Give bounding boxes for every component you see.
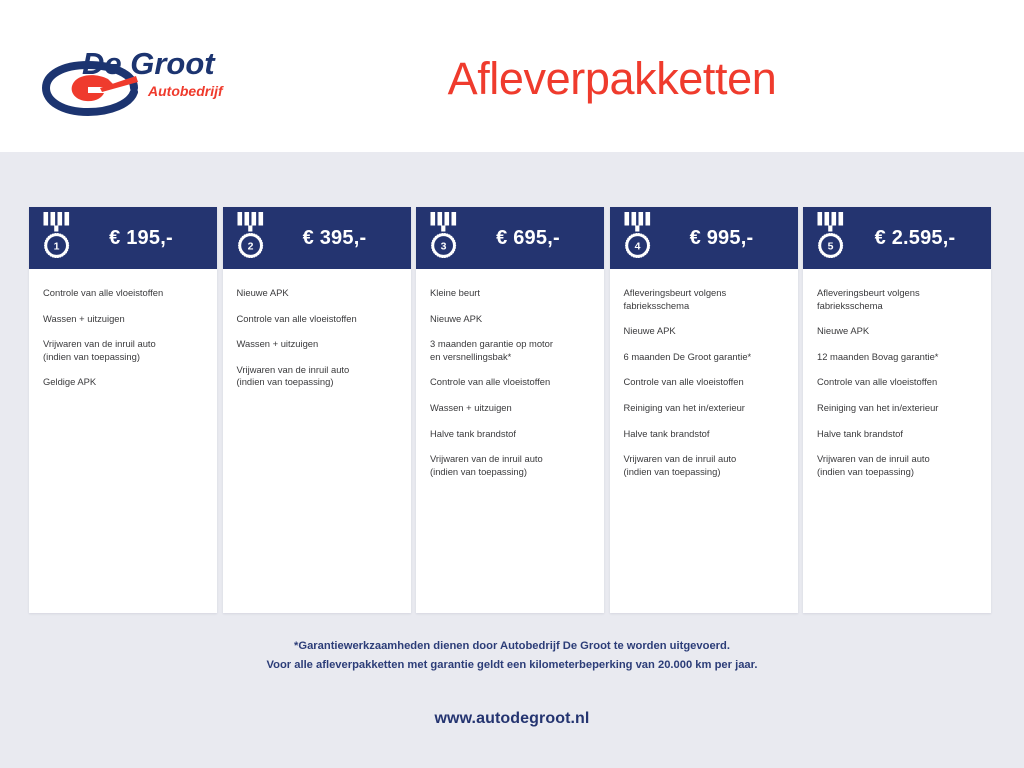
package-feature-item: Halve tank brandstof — [624, 428, 784, 441]
package-feature-item: 6 maanden De Groot garantie* — [624, 351, 784, 364]
package-price: € 195,- — [75, 227, 211, 250]
medal-number: 3 — [441, 240, 447, 252]
package-feature-item: Kleine beurt — [430, 287, 590, 300]
package-feature-list: Nieuwe APKControle van alle vloeistoffen… — [223, 269, 411, 613]
package-feature-item: 12 maanden Bovag garantie* — [817, 351, 977, 364]
package-card-header: 5 € 2.595,- — [803, 207, 991, 269]
medal-icon: 4 — [620, 211, 656, 263]
package-feature-item: Nieuwe APK — [624, 325, 784, 338]
medal-number: 1 — [54, 240, 60, 252]
medal-icon: 1 — [39, 211, 75, 263]
medal-number: 2 — [247, 240, 253, 252]
package-card[interactable]: 1 € 195,-Controle van alle vloeistoffenW… — [29, 207, 217, 613]
package-feature-item: Halve tank brandstof — [817, 428, 977, 441]
package-card[interactable]: 2 € 395,-Nieuwe APKControle van alle vlo… — [223, 207, 411, 613]
package-card[interactable]: 5 € 2.595,-Afleveringsbeurt volgensfabri… — [803, 207, 991, 613]
medal-icon: 3 — [426, 211, 462, 263]
medal-icon: 2 — [233, 211, 269, 263]
package-card[interactable]: 3 € 695,-Kleine beurtNieuwe APK3 maanden… — [416, 207, 604, 613]
package-card-header: 3 € 695,- — [416, 207, 604, 269]
package-price: € 995,- — [656, 227, 792, 250]
disclaimer-line-1: *Garantiewerkzaamheden dienen door Autob… — [0, 637, 1024, 656]
package-card-header: 4 € 995,- — [610, 207, 798, 269]
package-feature-item: Controle van alle vloeistoffen — [817, 376, 977, 389]
package-feature-item: Nieuwe APK — [237, 287, 397, 300]
package-feature-item: Nieuwe APK — [430, 313, 590, 326]
package-feature-item: Afleveringsbeurt volgensfabrieksschema — [817, 287, 977, 312]
medal-number: 5 — [828, 240, 834, 252]
package-feature-list: Kleine beurtNieuwe APK3 maanden garantie… — [416, 269, 604, 613]
website-url[interactable]: www.autodegroot.nl — [0, 710, 1024, 728]
package-feature-item: Controle van alle vloeistoffen — [237, 313, 397, 326]
disclaimer-line-2: Voor alle afleverpakketten met garantie … — [0, 656, 1024, 675]
medal-icon: 5 — [813, 211, 849, 263]
package-feature-item: Vrijwaren van de inruil auto(indien van … — [43, 338, 203, 363]
package-feature-item: Vrijwaren van de inruil auto(indien van … — [430, 453, 590, 478]
page-header: De Groot Autobedrijf Afleverpakketten — [0, 0, 1024, 152]
package-card[interactable]: 4 € 995,-Afleveringsbeurt volgensfabriek… — [610, 207, 798, 613]
package-feature-item: Vrijwaren van de inruil auto(indien van … — [624, 453, 784, 478]
package-card-header: 2 € 395,- — [223, 207, 411, 269]
package-feature-item: Geldige APK — [43, 376, 203, 389]
package-feature-item: Controle van alle vloeistoffen — [43, 287, 203, 300]
package-feature-item: 3 maanden garantie op motoren versnellin… — [430, 338, 590, 363]
page-title: Afleverpakketten — [0, 50, 1024, 108]
package-feature-item: Reiniging van het in/exterieur — [624, 402, 784, 415]
package-feature-list: Afleveringsbeurt volgensfabrieksschemaNi… — [610, 269, 798, 613]
package-feature-item: Halve tank brandstof — [430, 428, 590, 441]
package-feature-item: Controle van alle vloeistoffen — [624, 376, 784, 389]
package-price: € 695,- — [462, 227, 598, 250]
package-feature-item: Wassen + uitzuigen — [430, 402, 590, 415]
package-card-header: 1 € 195,- — [29, 207, 217, 269]
package-price: € 2.595,- — [849, 227, 985, 250]
package-feature-item: Wassen + uitzuigen — [43, 313, 203, 326]
package-feature-list: Afleveringsbeurt volgensfabrieksschemaNi… — [803, 269, 991, 613]
package-feature-item: Vrijwaren van de inruil auto(indien van … — [817, 453, 977, 478]
package-card-list: 1 € 195,-Controle van alle vloeistoffenW… — [29, 207, 991, 613]
package-feature-item: Wassen + uitzuigen — [237, 338, 397, 351]
package-feature-item: Controle van alle vloeistoffen — [430, 376, 590, 389]
package-feature-item: Afleveringsbeurt volgensfabrieksschema — [624, 287, 784, 312]
package-price: € 395,- — [269, 227, 405, 250]
package-feature-item: Vrijwaren van de inruil auto(indien van … — [237, 364, 397, 389]
package-feature-list: Controle van alle vloeistoffenWassen + u… — [29, 269, 217, 613]
medal-number: 4 — [634, 240, 640, 252]
package-feature-item: Nieuwe APK — [817, 325, 977, 338]
package-feature-item: Reiniging van het in/exterieur — [817, 402, 977, 415]
content-panel: 1 € 195,-Controle van alle vloeistoffenW… — [0, 152, 1024, 768]
disclaimer-text: *Garantiewerkzaamheden dienen door Autob… — [0, 637, 1024, 675]
